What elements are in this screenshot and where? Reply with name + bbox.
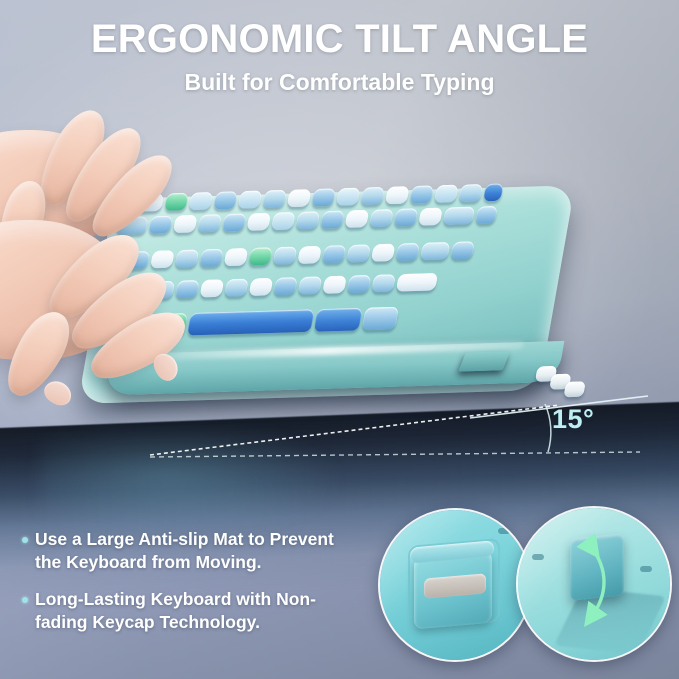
rotation-arrow-icon [518,508,670,660]
feature-text: Long-Lasting Keyboard with Non-fading Ke… [35,588,352,634]
page-subtitle: Built for Comfortable Typing [0,69,679,96]
inset-kickstand-raised [516,506,672,662]
header-block: ERGONOMIC TILT ANGLE Built for Comfortab… [0,18,679,96]
feature-text: Use a Large Anti-slip Mat to Prevent the… [35,528,352,574]
list-item: Use a Large Anti-slip Mat to Prevent the… [22,528,352,574]
inset-kickstand-folded [378,508,532,662]
list-item: Long-Lasting Keyboard with Non-fading Ke… [22,588,352,634]
vent-notch [498,528,510,534]
feature-list: Use a Large Anti-slip Mat to Prevent the… [22,528,352,648]
bullet-dot-icon [22,537,28,543]
arrow-keys [531,365,600,402]
bullet-dot-icon [22,597,28,603]
hand-lower [0,200,240,390]
product-feature-image: ERGONOMIC TILT ANGLE Built for Comfortab… [0,0,679,679]
page-title: ERGONOMIC TILT ANGLE [0,18,679,60]
